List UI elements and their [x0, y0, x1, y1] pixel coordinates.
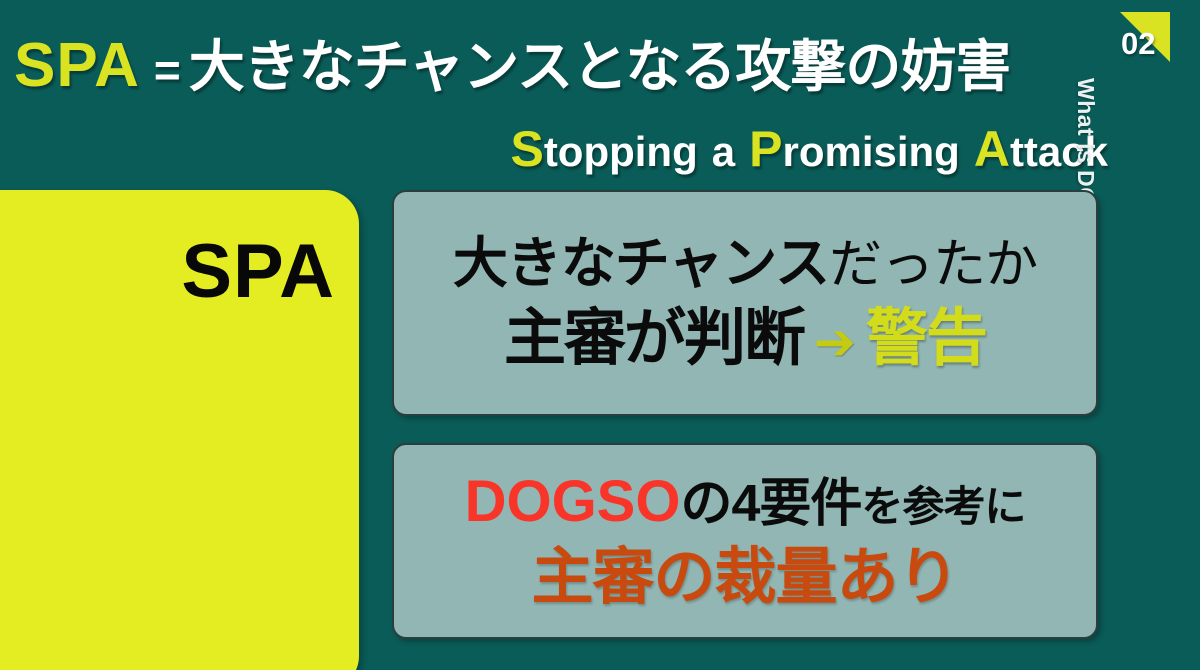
criteria-dogso-term: DOGSO — [465, 472, 681, 533]
judgement-line-2: 主審が判断 ➔ 警告 — [504, 306, 986, 371]
section-number: 02 — [1121, 26, 1155, 62]
subtitle-a-initial: A — [974, 120, 1010, 178]
title-equals-sign: = — [154, 43, 181, 97]
subtitle-p-initial: P — [749, 120, 782, 178]
page-title: SPA = 大きなチャンスとなる攻撃の妨害 — [14, 22, 1114, 94]
judgement-chance-bold: 大きなチャンス — [453, 235, 829, 293]
arrow-right-icon: ➔ — [814, 316, 856, 369]
yellow-card-shape: SPA — [0, 190, 359, 670]
slide-canvas: SPA = 大きなチャンスとなる攻撃の妨害 S topping a P romi… — [0, 0, 1200, 670]
judgement-line-1: 大きなチャンス だったか — [453, 235, 1037, 293]
subtitle-expansion: S topping a P romising A ttack — [510, 120, 1108, 178]
yellow-card-label: SPA — [181, 228, 335, 315]
subtitle-p-rest: romising — [782, 128, 959, 176]
judgement-chance-light: だったか — [829, 237, 1037, 293]
subtitle-s-rest: topping — [544, 128, 698, 176]
judgement-referee-decides: 主審が判断 — [504, 306, 804, 371]
title-acronym: SPA — [14, 30, 140, 101]
info-box-judgement: 大きなチャンス だったか 主審が判断 ➔ 警告 — [392, 190, 1098, 416]
subtitle-article: a — [712, 128, 735, 176]
criteria-line-2: 主審の裁量あり — [531, 545, 958, 610]
subtitle-s-initial: S — [510, 120, 543, 178]
info-box-criteria: DOGSO の4要件 を参考に 主審の裁量あり — [392, 443, 1098, 639]
judgement-caution-outcome: 警告 — [866, 306, 986, 371]
criteria-four-conditions: の4要件 — [680, 477, 861, 532]
criteria-line-1: DOGSO の4要件 を参考に — [465, 472, 1026, 533]
title-japanese: 大きなチャンスとなる攻撃の妨害 — [189, 22, 1011, 103]
criteria-referee-discretion: 主審の裁量あり — [531, 545, 958, 610]
criteria-reference-tail: を参考に — [861, 485, 1025, 529]
